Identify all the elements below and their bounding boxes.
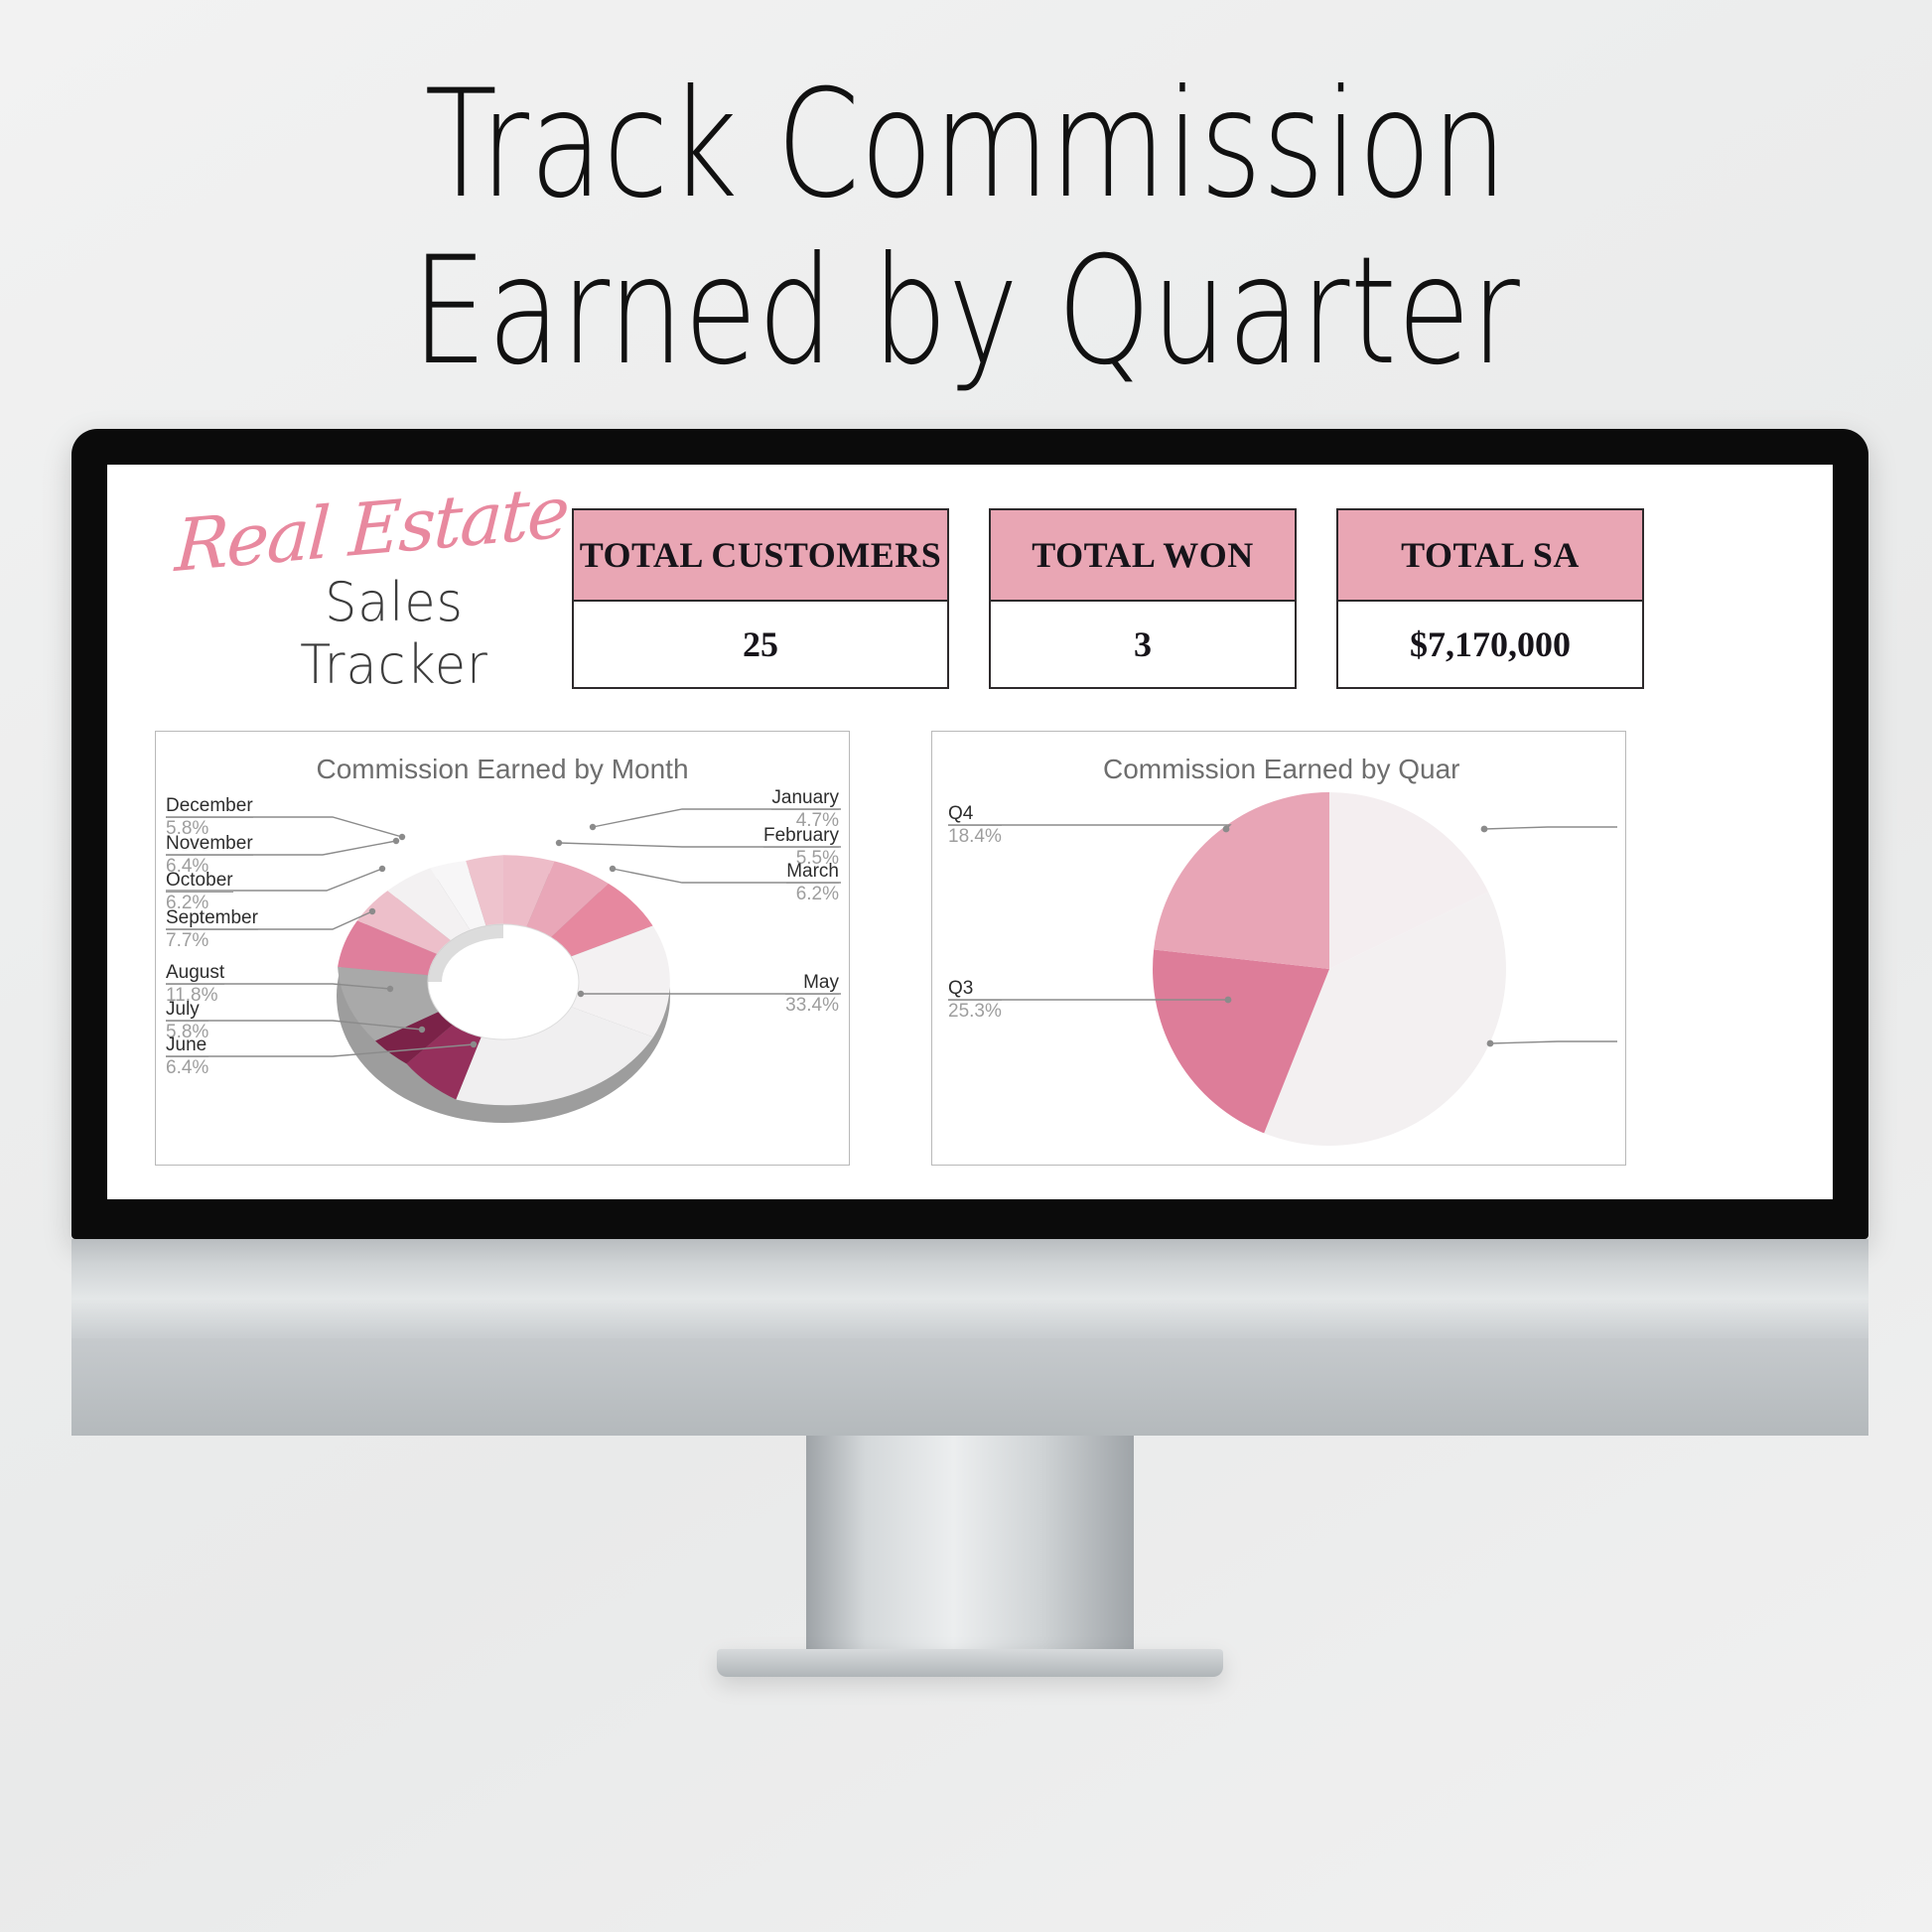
- donut-label-may: May 33.4%: [785, 972, 839, 1017]
- donut-label-june: June 6.4%: [166, 1035, 208, 1079]
- monitor-bezel: Real Estate Sales Tracker TOTAL CUSTOMER…: [71, 429, 1868, 1239]
- kpi-label: TOTAL WON: [991, 510, 1295, 602]
- brand-logo: Real Estate Sales Tracker: [155, 516, 572, 696]
- charts-row: Commission Earned by Month: [107, 731, 1833, 1166]
- donut-label-march: March 6.2%: [786, 861, 839, 905]
- monitor-stand-column: [806, 1436, 1134, 1649]
- donut-plot: December 5.8% November 6.4% October 6.2%: [156, 785, 849, 1153]
- chart-title: Commission Earned by Month: [156, 732, 849, 785]
- kpi-label: TOTAL SA: [1338, 510, 1642, 602]
- kpi-label: TOTAL CUSTOMERS: [574, 510, 947, 602]
- kpi-value: 25: [574, 602, 947, 687]
- kpi-row: TOTAL CUSTOMERS 25 TOTAL WON 3 TOTAL SA …: [572, 508, 1644, 689]
- kpi-value: 3: [991, 602, 1295, 687]
- kpi-card-total-sales[interactable]: TOTAL SA $7,170,000: [1336, 508, 1644, 689]
- dashboard: Real Estate Sales Tracker TOTAL CUSTOMER…: [107, 465, 1833, 1199]
- pie-label-q3: Q3 25.3%: [948, 978, 1002, 1023]
- donut-leader-lines-right: [156, 785, 851, 1153]
- brand-sub-text: Sales Tracker: [227, 571, 562, 696]
- pie-label-q4: Q4 18.4%: [948, 803, 1002, 848]
- pie-plot: Q4 18.4% Q3 25.3%: [932, 785, 1625, 1153]
- page-title: Track Commission Earned by Quarter: [194, 62, 1739, 395]
- kpi-value: $7,170,000: [1338, 602, 1642, 687]
- monitor-stand-lower: [71, 1338, 1868, 1436]
- kpi-card-total-customers[interactable]: TOTAL CUSTOMERS 25: [572, 508, 949, 689]
- monitor-stand-base: [717, 1649, 1223, 1677]
- monitor: Real Estate Sales Tracker TOTAL CUSTOMER…: [71, 429, 1868, 1677]
- chart-commission-by-quarter[interactable]: Commission Earned by Quar: [931, 731, 1626, 1166]
- pie-leader-lines: [932, 785, 1627, 1153]
- monitor-stand-neck: [71, 1239, 1868, 1338]
- donut-label-september: September 7.7%: [166, 907, 258, 952]
- chart-commission-by-month[interactable]: Commission Earned by Month: [155, 731, 850, 1166]
- chart-title: Commission Earned by Quar: [932, 732, 1625, 785]
- brand-script-text: Real Estate: [171, 482, 572, 578]
- kpi-card-total-won[interactable]: TOTAL WON 3: [989, 508, 1297, 689]
- monitor-screen: Real Estate Sales Tracker TOTAL CUSTOMER…: [107, 465, 1833, 1199]
